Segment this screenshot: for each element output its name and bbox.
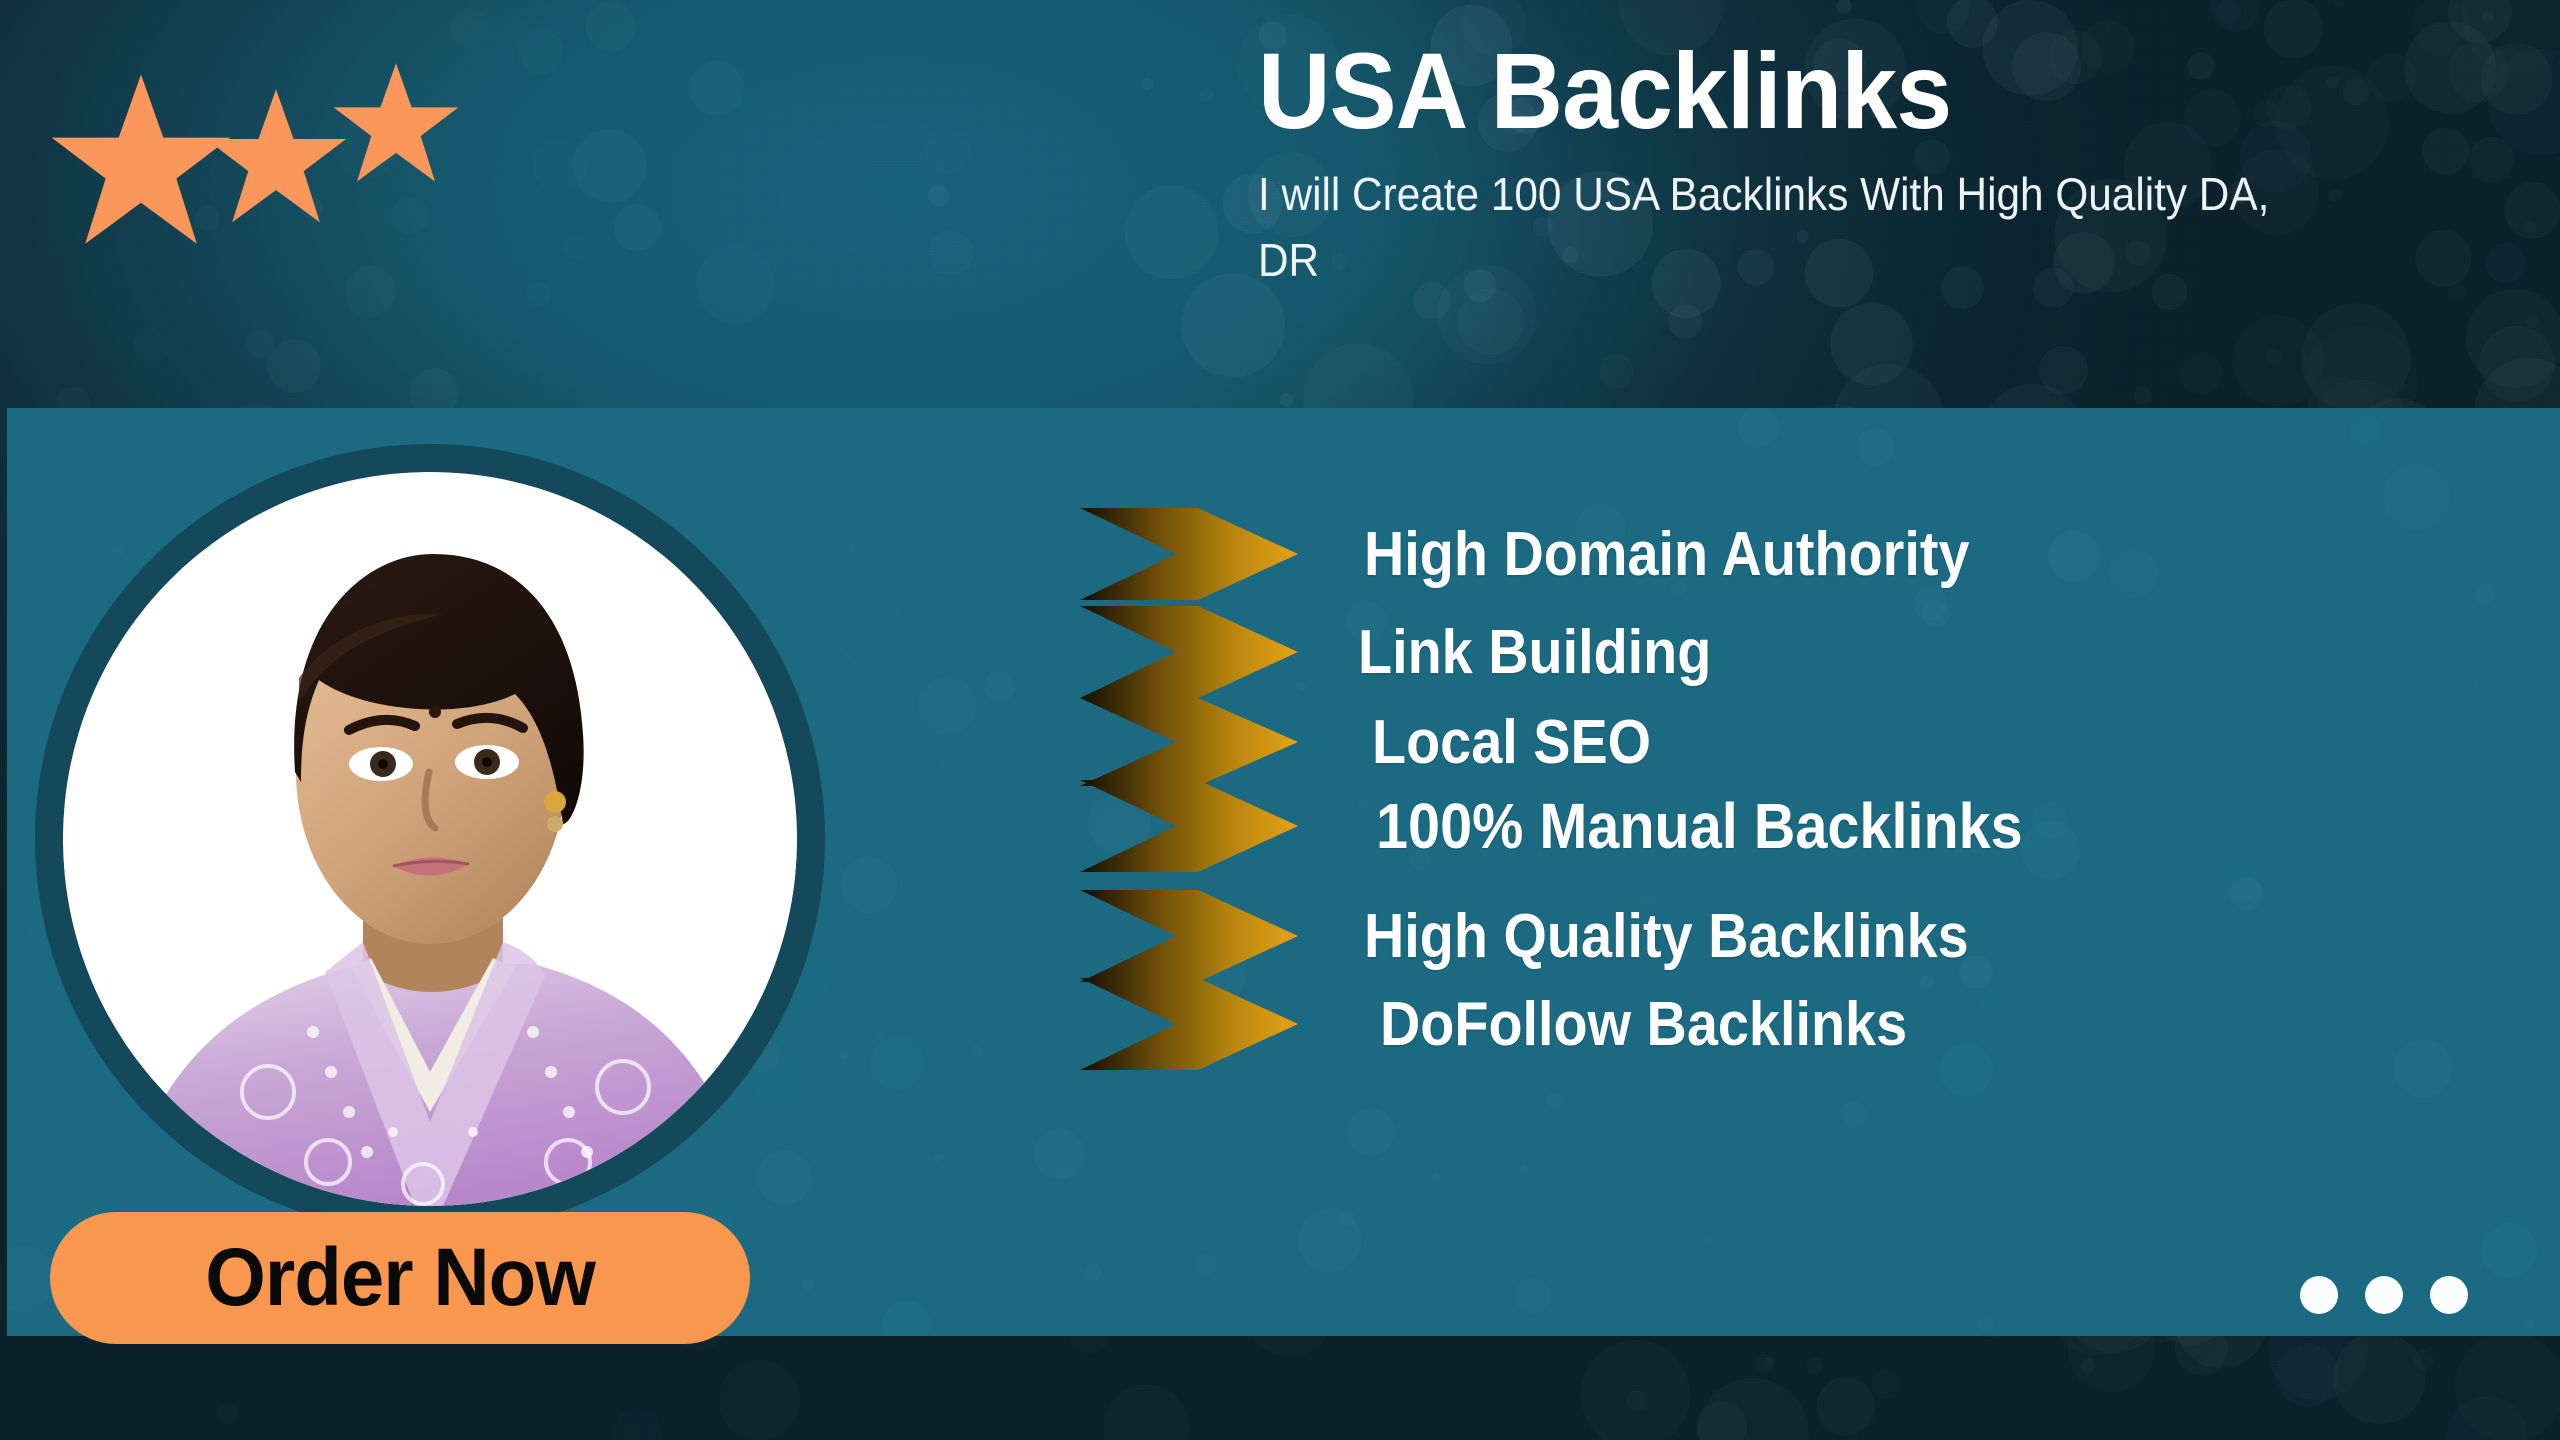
- chevron-arrow-icon: [1080, 886, 1298, 986]
- feature-label: 100% Manual Backlinks: [1376, 789, 2023, 863]
- page-title: USA Backlinks: [1258, 34, 2355, 148]
- page-subtitle: I will Create 100 USA Backlinks With Hig…: [1258, 162, 2325, 293]
- order-now-button[interactable]: Order Now: [50, 1212, 750, 1344]
- feature-label: High Quality Backlinks: [1364, 901, 1969, 972]
- pagination-dots[interactable]: [2300, 1276, 2468, 1314]
- star-icon: [331, 60, 461, 186]
- chevron-arrow-icon: [1080, 504, 1298, 604]
- pagination-dot[interactable]: [2430, 1276, 2468, 1314]
- feature-row: 100% Manual Backlinks: [1080, 776, 2095, 876]
- feature-row: DoFollow Backlinks: [1080, 974, 1966, 1074]
- feature-label: Link Building: [1358, 617, 1711, 688]
- feature-label: High Domain Authority: [1364, 519, 1970, 590]
- pagination-dot[interactable]: [2365, 1276, 2403, 1314]
- content-panel: High Domain Authority Link Building: [7, 408, 2560, 1336]
- gig-thumbnail-banner: USA Backlinks I will Create 100 USA Back…: [0, 0, 2560, 1440]
- chevron-arrow-icon: [1080, 974, 1298, 1074]
- seller-portrait-photo: [63, 472, 797, 1206]
- star-icon: [203, 86, 349, 227]
- avatar-photo-frame: [63, 472, 797, 1206]
- feature-row: High Quality Backlinks: [1080, 886, 2036, 986]
- feature-label: Local SEO: [1372, 707, 1651, 778]
- chevron-arrow-icon: [1080, 602, 1298, 702]
- headline-block: USA Backlinks I will Create 100 USA Back…: [1258, 34, 2438, 293]
- feature-list: High Domain Authority Link Building: [1080, 504, 2520, 1064]
- feature-label: DoFollow Backlinks: [1380, 989, 1907, 1060]
- rating-stars: [48, 28, 508, 228]
- feature-row: High Domain Authority: [1080, 504, 2037, 604]
- pagination-dot[interactable]: [2300, 1276, 2338, 1314]
- feature-row: Link Building: [1080, 602, 1751, 702]
- avatar: [35, 444, 825, 1234]
- chevron-arrow-icon: [1080, 776, 1298, 876]
- order-now-label: Order Now: [205, 1231, 595, 1325]
